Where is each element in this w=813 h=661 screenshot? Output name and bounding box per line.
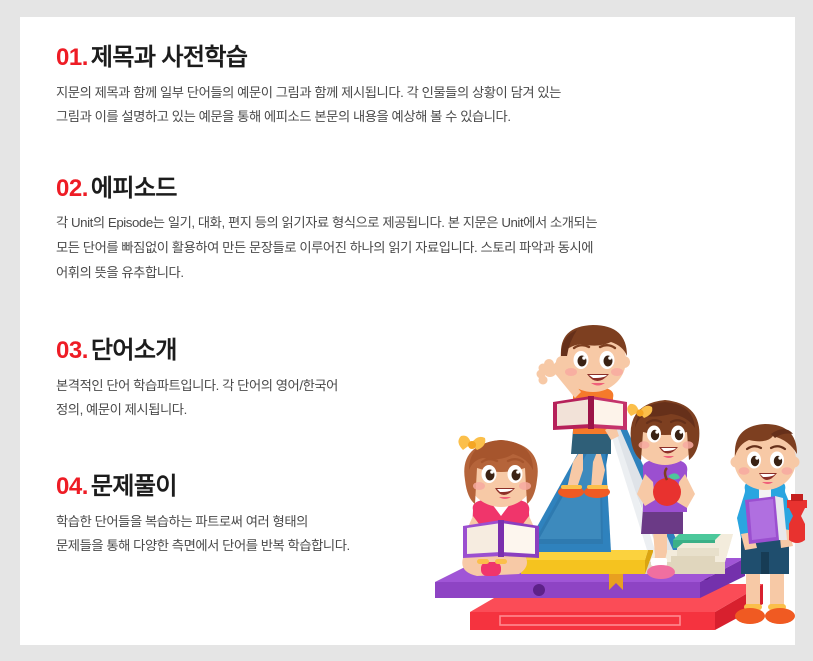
section-03-number: 03. — [56, 337, 88, 364]
section-04: 04.문제풀이 학습한 단어들을 복습하는 파트로써 여러 형태의 문제들을 통… — [56, 473, 696, 559]
figure-boy-standing-right — [731, 424, 808, 624]
content-card: 01.제목과 사전학습 지문의 제목과 함께 일부 단어들의 예문이 그림과 함… — [20, 17, 795, 645]
section-04-number: 04. — [56, 473, 88, 500]
section-01-number: 01. — [56, 44, 88, 71]
section-01-body: 지문의 제목과 함께 일부 단어들의 예문이 그림과 함께 제시됩니다. 각 인… — [56, 81, 696, 130]
sections-list: 01.제목과 사전학습 지문의 제목과 함께 일부 단어들의 예문이 그림과 함… — [56, 44, 696, 559]
section-03-title: 단어소개 — [91, 337, 177, 364]
section-03-heading: 03.단어소개 — [56, 337, 696, 365]
book-purple — [435, 558, 745, 598]
section-03-body: 본격적인 단어 학습파트입니다. 각 단어의 영어/한국어 정의, 예문이 제시… — [56, 374, 696, 423]
section-02-heading: 02.에피소드 — [56, 175, 696, 203]
section-01: 01.제목과 사전학습 지문의 제목과 함께 일부 단어들의 예문이 그림과 함… — [56, 44, 696, 130]
section-01-title: 제목과 사전학습 — [91, 44, 247, 71]
section-02: 02.에피소드 각 Unit의 Episode는 일기, 대화, 편지 등의 읽… — [56, 175, 696, 285]
page-root: 01.제목과 사전학습 지문의 제목과 함께 일부 단어들의 예문이 그림과 함… — [0, 0, 813, 661]
section-02-title: 에피소드 — [91, 175, 177, 202]
section-02-body: 각 Unit의 Episode는 일기, 대화, 편지 등의 읽기자료 형식으로… — [56, 211, 696, 285]
section-04-title: 문제풀이 — [91, 473, 177, 500]
section-02-number: 02. — [56, 175, 88, 202]
section-01-heading: 01.제목과 사전학습 — [56, 44, 696, 72]
section-03: 03.단어소개 본격적인 단어 학습파트입니다. 각 단어의 영어/한국어 정의… — [56, 337, 696, 423]
section-04-heading: 04.문제풀이 — [56, 473, 696, 501]
section-04-body: 학습한 단어들을 복습하는 파트로써 여러 형태의 문제들을 통해 다양한 측면… — [56, 510, 696, 559]
book-red-bottom — [470, 584, 763, 630]
